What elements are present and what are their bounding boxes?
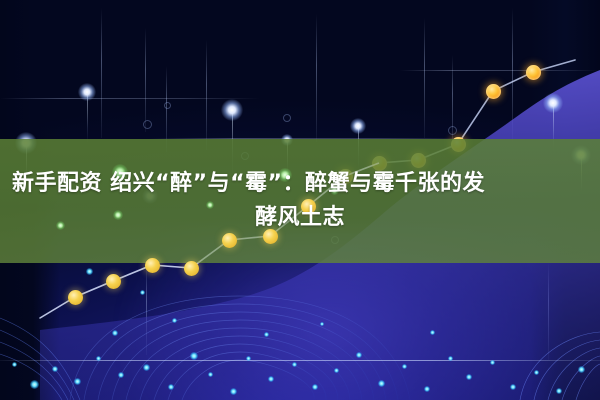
horizontal-divider [0,360,600,361]
banner-image: 新手配资 绍兴“醉”与“霉”：醉蟹与霉千张的发 酵风土志 [0,0,600,400]
banner-title-line-2: 酵风土志 [255,201,345,235]
banner-title: 新手配资 绍兴“醉”与“霉”：醉蟹与霉千张的发 酵风土志 [0,139,600,263]
banner-title-line-1: 新手配资 绍兴“醉”与“霉”：醉蟹与霉千张的发 [8,167,592,201]
